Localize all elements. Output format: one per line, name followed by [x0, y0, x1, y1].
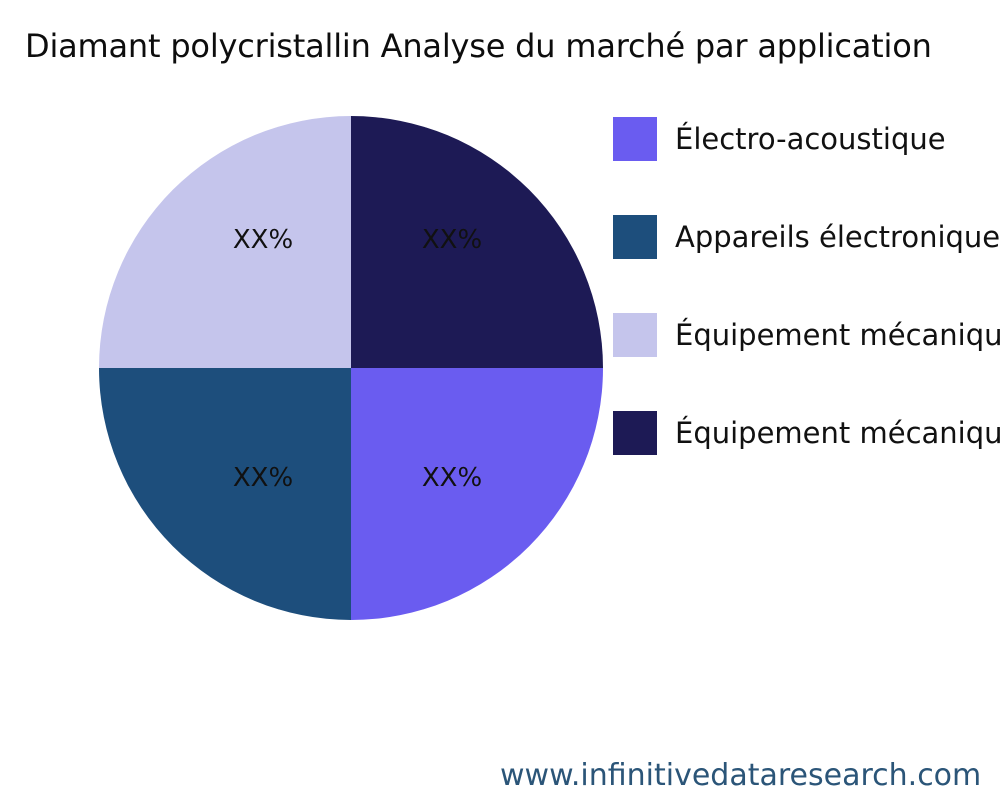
legend-swatch-icon: [613, 215, 657, 259]
pie-svg: [99, 116, 603, 620]
legend-swatch-icon: [613, 313, 657, 357]
pie-slice-appareils-electroniques[interactable]: [99, 368, 351, 620]
legend-swatch-icon: [613, 117, 657, 161]
chart-legend: Électro-acoustique Appareils électroniqu…: [613, 117, 1000, 509]
legend-item-equipement-mecanique-2[interactable]: Équipement mécanique: [613, 411, 1000, 509]
pie-slice-label: XX%: [233, 227, 293, 253]
legend-item-label: Appareils électroniques: [675, 214, 1000, 258]
legend-item-electro-acoustique[interactable]: Électro-acoustique: [613, 117, 1000, 215]
page-title: Diamant polycristallin Analyse du marché…: [25, 26, 1000, 66]
legend-item-label: Équipement mécanique: [675, 312, 1000, 356]
legend-item-equipement-mecanique-1[interactable]: Équipement mécanique: [613, 313, 1000, 411]
pie-chart: XX% XX% XX% XX%: [99, 116, 603, 620]
pie-slice-electro-acoustique[interactable]: [351, 368, 603, 620]
pie-slice-label: XX%: [422, 227, 482, 253]
legend-item-label: Électro-acoustique: [675, 116, 946, 160]
legend-swatch-icon: [613, 411, 657, 455]
legend-item-label: Équipement mécanique: [675, 410, 1000, 454]
pie-slice-label: XX%: [233, 465, 293, 491]
pie-slice-equipement-mecanique-1[interactable]: [99, 116, 351, 368]
chart-page: Diamant polycristallin Analyse du marché…: [0, 0, 1000, 800]
legend-item-appareils-electroniques[interactable]: Appareils électroniques: [613, 215, 1000, 313]
pie-slice-label: XX%: [422, 465, 482, 491]
source-website-url[interactable]: www.infinitivedataresearch.com: [500, 757, 981, 795]
